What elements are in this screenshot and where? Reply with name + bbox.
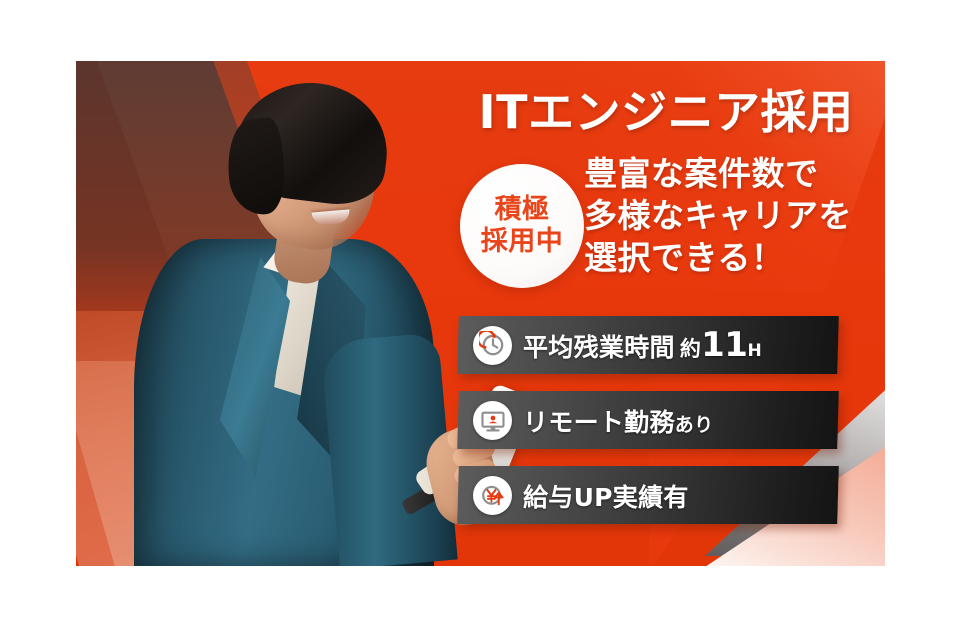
overtime-text: 平均残業時間 (523, 333, 675, 362)
banner-content: ITエンジニア採用 豊富な案件数で 多様なキャリアを 選択できる！ 積極 採用中 (76, 61, 885, 566)
status-badge-line-2: 採用中 (481, 226, 564, 258)
remote-text: リモート勤務 (523, 407, 675, 436)
overtime-unit: H (747, 341, 762, 361)
feature-bar-remote: リモート勤務あり (457, 391, 839, 449)
subheadline-line-2: 多様なキャリアを (584, 195, 852, 237)
banner-headline: ITエンジニア採用 (456, 88, 876, 136)
recruitment-banner: ITエンジニア採用 豊富な案件数で 多様なキャリアを 選択できる！ 積極 採用中 (76, 61, 885, 566)
page-root: ITエンジニア採用 豊富な案件数で 多様なキャリアを 選択できる！ 積極 採用中 (0, 0, 960, 640)
status-badge-line-1: 積極 (495, 194, 550, 226)
subheadline-line-1: 豊富な案件数で (584, 153, 852, 195)
yen-up-icon (473, 476, 512, 515)
overtime-approx: 約 (680, 337, 701, 361)
status-badge: 積極 採用中 (460, 164, 584, 288)
remote-suffix: あり (675, 413, 714, 435)
banner-subheadline: 豊富な案件数で 多様なキャリアを 選択できる！ (584, 153, 852, 280)
remote-monitor-icon (473, 401, 512, 440)
feature-bar-salary-label: 給与UP実績有 (523, 477, 689, 513)
feature-bar-overtime: 平均残業時間約11H (457, 316, 839, 374)
clock-refresh-icon (473, 326, 512, 365)
feature-bar-salary: 給与UP実績有 (457, 466, 839, 524)
feature-bar-remote-label: リモート勤務あり (523, 402, 713, 438)
feature-bar-overtime-label: 平均残業時間約11H (523, 325, 762, 365)
feature-bar-list: 平均残業時間約11H (458, 316, 838, 541)
overtime-value: 11 (701, 325, 747, 365)
subheadline-line-3: 選択できる！ (584, 237, 852, 279)
